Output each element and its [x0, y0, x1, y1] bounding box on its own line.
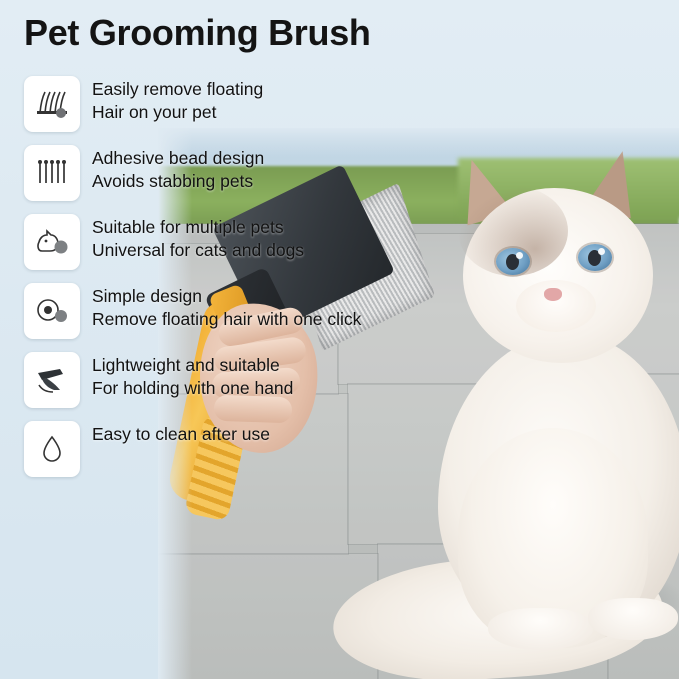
page-title: Pet Grooming Brush — [24, 12, 371, 54]
feature-item: Simple design Remove floating hair with … — [24, 283, 474, 339]
feature-item: Easy to clean after use — [24, 421, 474, 477]
hair-strands-icon — [24, 76, 80, 132]
bristle-comb-icon — [24, 145, 80, 201]
cat-dog-icon — [24, 214, 80, 270]
feature-item: Adhesive bead design Avoids stabbing pet… — [24, 145, 474, 201]
feature-text: Lightweight and suitable For holding wit… — [92, 352, 293, 400]
feature-item: Easily remove floating Hair on your pet — [24, 76, 474, 132]
feature-text: Simple design Remove floating hair with … — [92, 283, 361, 331]
cat-eye-right — [578, 244, 612, 271]
feature-text: Adhesive bead design Avoids stabbing pet… — [92, 145, 264, 193]
cat-nose — [544, 288, 562, 301]
feature-text: Easily remove floating Hair on your pet — [92, 76, 263, 124]
feature-text: Suitable for multiple pets Universal for… — [92, 214, 304, 262]
water-drop-icon — [24, 421, 80, 477]
cat-eye-left — [496, 248, 530, 275]
feature-item: Suitable for multiple pets Universal for… — [24, 214, 474, 270]
product-infographic: Pet Grooming Brush Easily remove floatin… — [0, 0, 679, 679]
feature-list: Easily remove floating Hair on your pet — [24, 76, 474, 490]
cat-paw — [488, 608, 593, 650]
one-click-button-icon — [24, 283, 80, 339]
cat-paw — [588, 598, 678, 640]
hand-holding-brush-icon — [24, 352, 80, 408]
feature-item: Lightweight and suitable For holding wit… — [24, 352, 474, 408]
feature-text: Easy to clean after use — [92, 421, 270, 446]
